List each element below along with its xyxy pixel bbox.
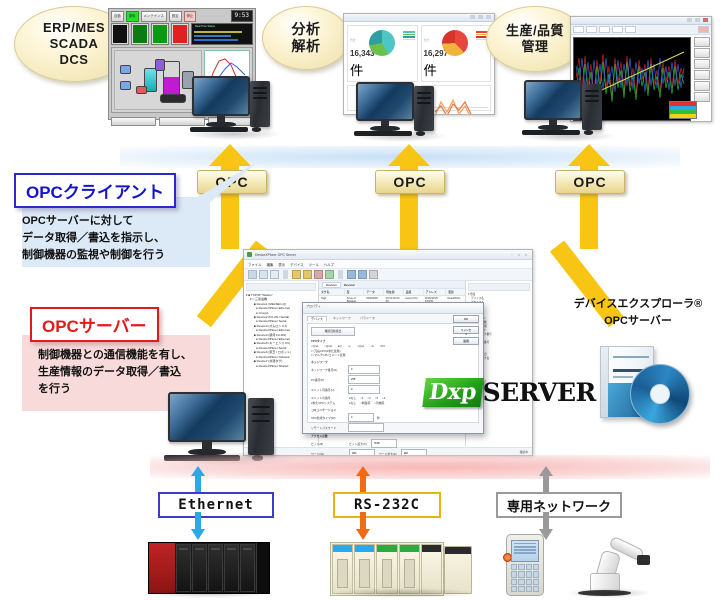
hmi-clock: 9:53 bbox=[231, 10, 253, 22]
dash-row-kpi: 合計 16,343 件 合計 16,297 件 bbox=[347, 25, 491, 82]
radio-red-none: ●なし bbox=[349, 401, 356, 405]
status-right: 接続中 bbox=[520, 450, 528, 454]
radio-multi-4: ○4 bbox=[382, 396, 385, 400]
dialog-section-comm: コミュニケーション bbox=[311, 408, 475, 412]
app-menu-edit[interactable]: 編集 bbox=[267, 262, 274, 267]
grid-col-name: タグ名 bbox=[319, 289, 345, 295]
toolbar-save-icon[interactable] bbox=[270, 270, 279, 279]
ethernet-arrow-down bbox=[191, 512, 205, 540]
server-pc-screen bbox=[170, 394, 244, 440]
dialog-field-bit[interactable]: ビット(B)ビット最大(X) bbox=[311, 439, 475, 448]
ethernet-arrow-up bbox=[191, 466, 205, 494]
protocol-label-rs232c: RS-232C bbox=[333, 492, 441, 518]
hmi-status-graph: Real Time Status bbox=[191, 23, 253, 45]
callout-client-title: OPCクライアント bbox=[14, 173, 176, 208]
pendant-key bbox=[533, 564, 539, 570]
grid-col-data: データ bbox=[364, 289, 384, 295]
dialog-check-2[interactable]: ☐ マルチCPUコメント使用 bbox=[311, 353, 475, 357]
toolbar-monitor-icon[interactable] bbox=[347, 270, 356, 279]
dialog-radio-row-1[interactable]: ○QnA○QnH●Q ○L○QnA○A○FX bbox=[311, 344, 475, 348]
hmi-footer-btn-1[interactable] bbox=[111, 117, 156, 126]
dialog-tab-network[interactable]: ネットワーク bbox=[330, 316, 354, 321]
callout-opc-client: OPCクライアント OPCサーバーに対して データ取得／書込を指示し、 制御機器… bbox=[14, 173, 176, 268]
trend-tb-btn-3[interactable] bbox=[599, 26, 610, 33]
trend-side-btn-1[interactable] bbox=[694, 37, 710, 47]
tag-grid-tabs[interactable]: Device1 Device2 bbox=[319, 281, 465, 289]
pc-monitor bbox=[356, 82, 414, 121]
app-menu-help[interactable]: ヘルプ bbox=[324, 262, 334, 267]
pendant-key bbox=[511, 571, 517, 577]
pendant-key bbox=[518, 579, 524, 585]
trend-titlebar bbox=[571, 17, 711, 25]
hmi-lamp-ready bbox=[111, 23, 129, 45]
radio-q: ●Q bbox=[338, 344, 342, 348]
dialog-field-pass[interactable]: リモートパスワード bbox=[311, 423, 475, 432]
toolbar-add-device-icon[interactable] bbox=[292, 270, 301, 279]
radio-qn: ○QnA bbox=[311, 344, 318, 348]
properties-dialog[interactable]: プロパティ デバイス ネットワーク パラメータ 機器自動検出 CPUタイプ ○Q… bbox=[302, 302, 484, 434]
app-menu-tools[interactable]: ツール bbox=[309, 262, 319, 267]
client-pc-quality bbox=[520, 80, 616, 140]
radio-a: ○A bbox=[370, 344, 374, 348]
pendant-key bbox=[533, 586, 539, 592]
serial-card-4 bbox=[399, 544, 420, 594]
device-teach-pendant[interactable] bbox=[506, 534, 544, 596]
server-pc-monitor bbox=[168, 392, 246, 442]
opc-badge-right: OPC bbox=[555, 170, 625, 194]
radio-qnh: ○QnH bbox=[324, 344, 331, 348]
dash-kpi-unit-1: 件 bbox=[350, 63, 363, 78]
grid-col-update: 更新 bbox=[446, 289, 465, 295]
device-robot-arm bbox=[566, 532, 652, 596]
radio-fx: ○FX bbox=[380, 344, 385, 348]
dialog-section-network: ネットワーク bbox=[311, 360, 475, 364]
serial-card-2 bbox=[354, 544, 375, 594]
app-icon bbox=[247, 252, 252, 257]
bubble-quality-label: 生産/品質 管理 bbox=[506, 23, 564, 55]
radio-red-standby: ○待機系 bbox=[374, 401, 384, 405]
dxp-logo-mark: Dxp bbox=[422, 378, 483, 407]
toolbar-add-tag-icon[interactable] bbox=[303, 270, 312, 279]
dxp-server-logo: Dxp SERVER bbox=[424, 378, 596, 407]
app-titlebar: DeviceXPlorer OPC Server − □ × bbox=[244, 250, 532, 260]
pendant-key bbox=[518, 571, 524, 577]
trend-side-btn-3[interactable] bbox=[694, 59, 710, 69]
toolbar-delete-icon[interactable] bbox=[314, 270, 323, 279]
hmi-block-blue1 bbox=[120, 65, 131, 74]
dialog-ok-button[interactable]: OK bbox=[453, 315, 479, 323]
product-box-subtitle bbox=[613, 376, 633, 378]
trend-toolbar[interactable] bbox=[571, 25, 711, 35]
pc-mouse bbox=[584, 130, 593, 135]
device-plc-ethernet bbox=[148, 542, 270, 594]
trend-side-btn-2[interactable] bbox=[694, 48, 710, 58]
app-menu-device[interactable]: デバイス bbox=[290, 262, 303, 267]
pendant-screen bbox=[511, 540, 538, 562]
device-robot-shadow bbox=[566, 588, 652, 598]
device-plc-ethernet-shadow bbox=[146, 588, 272, 598]
hmi-btn-auto[interactable]: 自動 bbox=[111, 11, 124, 22]
pc-keyboard bbox=[522, 130, 580, 135]
dxp-logo-text: SERVER bbox=[483, 380, 596, 405]
pc-mouse bbox=[252, 127, 261, 132]
dash-pie-teal bbox=[369, 30, 395, 56]
bubble-analysis: 分析 解析 bbox=[262, 6, 350, 70]
input-pc-no[interactable] bbox=[348, 375, 380, 384]
opc-badge-center: OPC bbox=[375, 170, 445, 194]
dash-pie-red bbox=[442, 30, 468, 56]
pc-tower bbox=[414, 86, 434, 131]
dialog-field-netno[interactable]: ネットワーク番号(N) bbox=[311, 365, 475, 374]
device-plc-aux-header bbox=[445, 547, 471, 554]
plc-slot-4 bbox=[224, 544, 239, 592]
dash-kpi-unit-2: 件 bbox=[424, 63, 437, 78]
dialog-cancel-button[interactable]: キャンセル bbox=[453, 326, 479, 334]
pc-keyboard bbox=[190, 127, 248, 132]
dialog-tab-param[interactable]: パラメータ bbox=[357, 316, 378, 321]
plc-end-cover bbox=[256, 543, 269, 593]
trend-side-btn-4[interactable] bbox=[694, 70, 710, 80]
product-package bbox=[600, 346, 700, 432]
callout-server-title: OPCサーバー bbox=[30, 307, 159, 342]
trend-tb-btn-alarm[interactable] bbox=[698, 26, 709, 33]
plc-slot-1 bbox=[176, 544, 191, 592]
radio-l: ○L bbox=[348, 344, 351, 348]
robot-gripper bbox=[637, 555, 651, 565]
app-menu-file[interactable]: ファイル bbox=[248, 262, 262, 267]
device-plc-aux bbox=[444, 546, 472, 594]
radio-multi-1: ○1 bbox=[360, 396, 363, 400]
toolbar-help-icon[interactable] bbox=[369, 270, 378, 279]
trend-tb-btn-1[interactable] bbox=[573, 26, 584, 33]
pc-screen bbox=[526, 82, 580, 118]
app-window-controls[interactable]: − □ × bbox=[511, 253, 529, 257]
input-remote-password[interactable] bbox=[348, 423, 384, 432]
pendant-key bbox=[511, 579, 517, 585]
dialog-tab-device[interactable]: デバイス bbox=[307, 316, 327, 321]
toolbar-sep-2 bbox=[338, 270, 343, 279]
pc-monitor bbox=[192, 76, 250, 116]
dialog-section-cputype: CPUタイプ bbox=[311, 339, 475, 343]
hmi-tank-magenta bbox=[163, 61, 180, 97]
product-box-logo bbox=[613, 356, 649, 358]
dash-legend-1 bbox=[403, 31, 415, 40]
tag-tab-2: Device2 bbox=[344, 283, 355, 287]
hmi-lamp-valve bbox=[131, 23, 149, 45]
toolbar-start-icon[interactable] bbox=[325, 270, 334, 279]
trend-side-btn-5[interactable] bbox=[694, 81, 710, 91]
app-window-title: DeviceXPlorer OPC Server bbox=[255, 253, 296, 257]
pc-mouse bbox=[416, 131, 425, 136]
plc-slot-5 bbox=[240, 544, 255, 592]
product-name-line1: デバイスエクスプローラ® bbox=[558, 296, 718, 313]
product-name: デバイスエクスプローラ® OPCサーバー bbox=[558, 296, 718, 329]
device-plc-serial-shadow bbox=[328, 588, 478, 598]
tag-tab-active: Device1 bbox=[322, 282, 341, 288]
app-menu-view[interactable]: 表示 bbox=[278, 262, 285, 267]
trend-tb-btn-2[interactable] bbox=[586, 26, 597, 33]
hmi-btn-config[interactable]: 設定 bbox=[169, 11, 182, 22]
dash-card-kpi-2: 合計 16,297 件 bbox=[421, 25, 492, 82]
pc-tower bbox=[250, 81, 270, 127]
plc-slot-2 bbox=[192, 544, 207, 592]
input-network-no[interactable] bbox=[348, 365, 380, 374]
hmi-lamp-pump bbox=[151, 23, 169, 45]
tag-grid-header: タグ名 型 データ 現在値 品質 アドレス 更新 bbox=[319, 289, 465, 296]
tree-header bbox=[246, 283, 316, 291]
trend-color-map bbox=[669, 101, 697, 119]
opc-arrow-right-head bbox=[568, 144, 610, 166]
radio-qna: ○QnA bbox=[357, 344, 364, 348]
client-pc-analysis bbox=[352, 82, 448, 140]
grid-col-quality: 品質 bbox=[404, 289, 424, 295]
hmi-toolbar: 自動 運転 メンテナンス 設定 停止 9:53 bbox=[109, 9, 255, 23]
product-name-line2: OPCサーバー bbox=[558, 313, 718, 330]
hmi-btn-maint[interactable]: メンテナンス bbox=[141, 11, 167, 22]
pendant-key bbox=[526, 564, 532, 570]
pendant-key bbox=[518, 564, 524, 570]
pc-keyboard bbox=[354, 131, 412, 136]
grid-col-address: アドレス bbox=[424, 289, 447, 295]
diagram-canvas: ERP/MES SCADA DCS 自動 運転 メンテナンス 設定 停止 9:5… bbox=[0, 0, 724, 600]
toolbar-sep-1 bbox=[283, 270, 288, 279]
radio-red-ctrl: ○制御系 bbox=[360, 401, 370, 405]
bubble-analysis-label: 分析 解析 bbox=[292, 21, 321, 55]
callout-opc-server: OPCサーバー 制御機器との通信機能を有し、 生産情報のデータ取得／書込 を行う bbox=[30, 307, 200, 402]
hmi-graph-title: Real Time Status bbox=[195, 25, 215, 28]
dedicated-arrow-up bbox=[539, 466, 553, 494]
pc-screen bbox=[358, 84, 412, 119]
plc-slot-3 bbox=[208, 544, 223, 592]
server-pc bbox=[160, 392, 300, 464]
pendant-keypad[interactable] bbox=[511, 564, 540, 593]
hmi-lamp-alarm bbox=[171, 23, 189, 45]
radio-multi-2: ○2 bbox=[368, 396, 371, 400]
plc-power-module bbox=[149, 543, 175, 593]
serial-cpu-card bbox=[421, 544, 442, 594]
dash-card-2-label: 合計 bbox=[424, 38, 430, 42]
pendant-key bbox=[511, 564, 517, 570]
dialog-btn-detect[interactable]: 機器自動検出 bbox=[311, 327, 355, 336]
product-cd bbox=[630, 364, 690, 424]
serial-card-1 bbox=[332, 544, 353, 594]
client-pc-erp bbox=[186, 76, 282, 138]
hmi-block-red bbox=[136, 86, 147, 94]
pc-tower bbox=[582, 84, 602, 130]
dialog-apply-button[interactable]: 適用 bbox=[453, 337, 479, 345]
radio-multi-none: ●なし bbox=[349, 396, 356, 400]
callout-client-body: OPCサーバーに対して データ取得／書込を指示し、 制御機器の監視や制御を行う bbox=[14, 208, 176, 268]
pc-monitor bbox=[524, 80, 582, 120]
rs232c-arrow-up bbox=[356, 466, 370, 494]
pendant-key bbox=[526, 586, 532, 592]
hmi-block-blue2 bbox=[120, 81, 131, 90]
pendant-key bbox=[518, 586, 524, 592]
trend-tb-btn-4[interactable] bbox=[612, 26, 623, 33]
input-bit-max[interactable] bbox=[371, 439, 397, 448]
input-unit-no[interactable] bbox=[348, 385, 380, 394]
bubble-erp-label: ERP/MES SCADA DCS bbox=[43, 20, 105, 68]
server-band bbox=[150, 455, 710, 479]
pendant-key bbox=[533, 579, 539, 585]
dialog-section-block: アクセス点数 bbox=[311, 434, 475, 438]
toolbar-new-icon[interactable] bbox=[248, 270, 257, 279]
grid-col-type: 型 bbox=[345, 289, 365, 295]
pendant-key bbox=[511, 586, 517, 592]
trend-tb-btn-5[interactable] bbox=[625, 26, 636, 33]
toolbar-properties-icon[interactable] bbox=[358, 270, 367, 279]
rs232c-arrow-down bbox=[356, 512, 370, 540]
pc-screen bbox=[194, 78, 248, 114]
pendant-key bbox=[526, 579, 532, 585]
client-callout-pointer bbox=[180, 160, 260, 206]
protocol-label-dedicated: 専用ネットワーク bbox=[496, 492, 622, 518]
grid-col-value: 現在値 bbox=[384, 289, 404, 295]
hmi-base-dark bbox=[160, 94, 186, 103]
dash-titlebar bbox=[344, 14, 494, 22]
hmi-btn-run[interactable]: 運転 bbox=[126, 11, 139, 22]
dialog-field-timeout[interactable]: CPU監視タイマ(W)秒 bbox=[311, 413, 475, 422]
input-cpu-timer[interactable] bbox=[348, 413, 374, 422]
hmi-block-purple bbox=[155, 59, 165, 71]
dash-card-kpi-1: 合計 16,343 件 bbox=[347, 25, 418, 82]
serial-card-3 bbox=[376, 544, 397, 594]
server-pc-tower bbox=[248, 398, 274, 455]
hmi-btn-stop[interactable]: 停止 bbox=[184, 11, 197, 22]
protocol-label-ethernet: Ethernet bbox=[158, 492, 274, 518]
pendant-key bbox=[526, 571, 532, 577]
opc-arrow-center-head bbox=[388, 144, 430, 166]
plc-slots bbox=[175, 543, 256, 593]
hmi-lamp-row: Real Time Status bbox=[109, 23, 255, 45]
radio-multi-3: ○3 bbox=[375, 396, 378, 400]
toolbar-open-icon[interactable] bbox=[259, 270, 268, 279]
dash-card-1-label: 合計 bbox=[350, 38, 356, 42]
dialog-titlebar: プロパティ bbox=[303, 303, 483, 314]
app-menubar[interactable]: ファイル 編集 表示 デバイス ツール ヘルプ bbox=[244, 260, 532, 269]
app-toolbar[interactable] bbox=[244, 269, 532, 281]
prop-header bbox=[468, 283, 530, 291]
dialog-action-buttons[interactable]: OK キャンセル 適用 bbox=[453, 315, 479, 345]
pendant-key bbox=[533, 571, 539, 577]
